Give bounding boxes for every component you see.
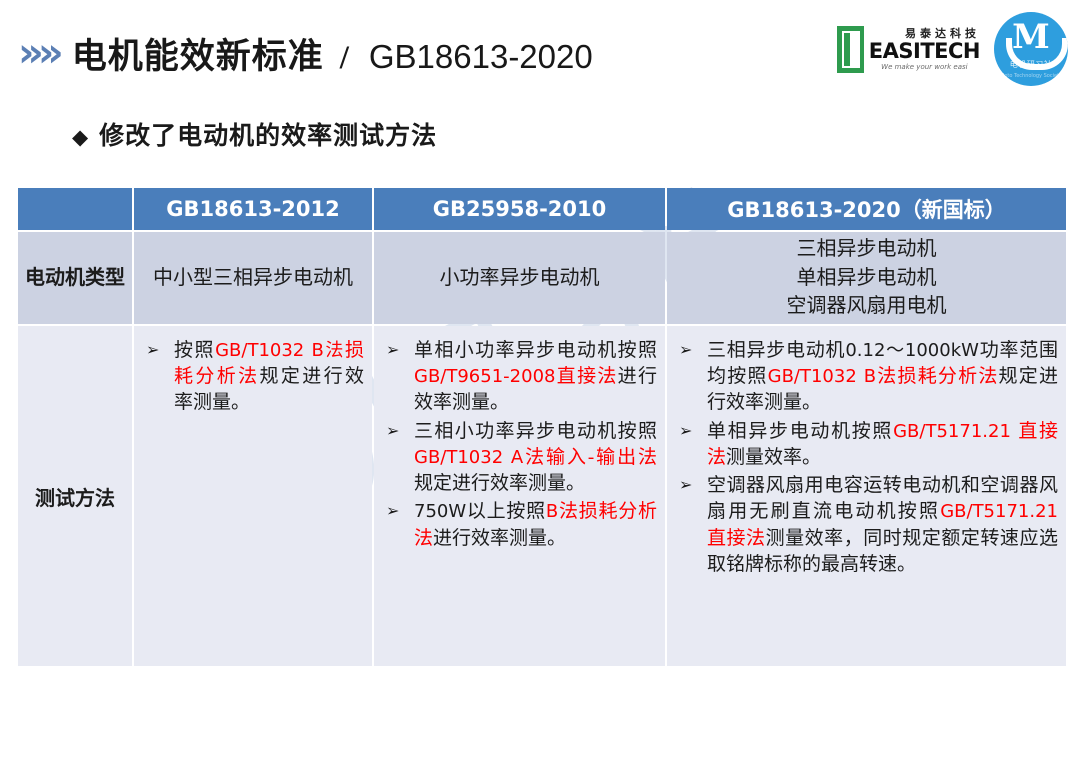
table-row-test-method: 测试方法 按照GB/T1032 B法损耗分析法规定进行效率测量。 单相小功率异步…: [18, 326, 1066, 666]
title-chinese: 电机能效新标准: [72, 28, 324, 79]
cell-text: 中小型三相异步电动机: [134, 264, 372, 292]
highlighted-standard-text: GB/T1032 A: [414, 447, 523, 468]
cell-line: 中小型三相异步电动机: [134, 264, 372, 292]
table-header: GB18613-2012 GB25958-2010 GB18613-2020（新…: [18, 188, 1066, 230]
cell-content: 单相小功率异步电动机按照GB/T9651-2008直接法进行效率测量。三相小功率…: [374, 326, 665, 562]
text-run: 三相异步电动机: [707, 340, 845, 361]
highlighted-standard-text: 直接法: [707, 528, 766, 549]
cell-motor-type-2020: 三相异步电动机单相异步电动机空调器风扇用电机: [667, 232, 1066, 324]
cell-content: 按照GB/T1032 B法损耗分析法规定进行效率测量。: [134, 326, 372, 427]
list-item: 三相异步电动机0.12～1000kW功率范围均按照GB/T1032 B法损耗分析…: [677, 338, 1058, 417]
highlighted-standard-text: GB/T9651-2008: [414, 366, 555, 387]
highlighted-standard-text: GB/T1032 B: [768, 366, 876, 387]
cell-line: 空调器风扇用电机: [667, 292, 1066, 320]
logo-society-en: Moto Technology Society: [994, 73, 1068, 79]
logo-area: 易泰达科技 EASITECH We make your work easi M …: [837, 12, 1068, 86]
text-run: 三相小功率异步电动机按照: [414, 421, 657, 442]
table-header-row: GB18613-2012 GB25958-2010 GB18613-2020（新…: [18, 188, 1066, 230]
cell-line: 单相异步电动机: [667, 264, 1066, 292]
cell-line: 小功率异步电动机: [374, 264, 665, 292]
list-item: 750W以上按照B法损耗分析法进行效率测量。: [384, 499, 657, 551]
table-header-gb18613-2020: GB18613-2020（新国标）: [667, 188, 1066, 230]
highlighted-standard-text: B: [546, 501, 558, 522]
list-item: 单相小功率异步电动机按照GB/T9651-2008直接法进行效率测量。: [384, 338, 657, 417]
cell-line: 三相异步电动机: [667, 235, 1066, 263]
motor-society-logo: M 电机研习社 Moto Technology Society: [994, 12, 1068, 86]
highlighted-standard-text: 法损耗分析法: [876, 366, 998, 387]
easitech-logo-en: EASITECH: [869, 41, 980, 62]
list-item: 三相小功率异步电动机按照GB/T1032 A法输入-输出法规定进行效率测量。: [384, 419, 657, 498]
title-separator: /: [340, 40, 349, 77]
section-subtitle: ◆修改了电动机的效率测试方法: [72, 116, 437, 152]
cell-text: 小功率异步电动机: [374, 264, 665, 292]
slide-header: »» 电机能效新标准 / GB18613-2020 易泰达科技 EASITECH…: [0, 0, 1080, 100]
table-header-gb25958-2010: GB25958-2010: [374, 188, 665, 230]
cell-content: 三相异步电动机0.12～1000kW功率范围均按照GB/T1032 B法损耗分析…: [667, 326, 1066, 588]
easitech-tagline: We make your work easi: [869, 64, 980, 71]
text-run: 规定进行效率测量。: [414, 473, 585, 494]
bullet-list: 三相异步电动机0.12～1000kW功率范围均按照GB/T1032 B法损耗分析…: [677, 338, 1058, 578]
text-run: 单相小功率异步电动机按照: [414, 340, 657, 361]
logo-society-cn: 电机研习社: [994, 59, 1068, 70]
bullet-list: 按照GB/T1032 B法损耗分析法规定进行效率测量。: [144, 338, 364, 417]
text-run: 测量效率。: [726, 447, 821, 468]
highlighted-standard-text: GB/T5171.21: [940, 501, 1058, 522]
text-run: 按照: [174, 340, 215, 361]
text-run: 单相异步电动机按照: [707, 421, 893, 442]
highlighted-standard-text: GB/T5171.21: [893, 421, 1018, 442]
text-run: 750W: [414, 501, 466, 522]
row-label-test-method: 测试方法: [18, 326, 132, 666]
table-header-gb18613-2012: GB18613-2012: [134, 188, 372, 230]
highlighted-standard-text: 法输入-输出法: [523, 447, 657, 468]
list-item: 单相异步电动机按照GB/T5171.21 直接法测量效率。: [677, 419, 1058, 471]
cell-text: 三相异步电动机单相异步电动机空调器风扇用电机: [667, 235, 1066, 320]
table-body: 电动机类型 中小型三相异步电动机 小功率异步电动机 三相异步电动机单相异步电动机…: [18, 232, 1066, 666]
door-icon: [837, 26, 864, 73]
highlighted-standard-text: 直接法: [555, 366, 617, 387]
diamond-bullet-icon: ◆: [72, 125, 89, 149]
list-item: 空调器风扇用电容运转电动机和空调器风扇用无刷直流电动机按照GB/T5171.21…: [677, 473, 1058, 578]
subtitle-text: 修改了电动机的效率测试方法: [99, 123, 437, 150]
text-run: 0.12～1000kW: [845, 340, 979, 361]
cell-test-method-2012: 按照GB/T1032 B法损耗分析法规定进行效率测量。: [134, 326, 372, 666]
table-header-blank: [18, 188, 132, 230]
list-item: 按照GB/T1032 B法损耗分析法规定进行效率测量。: [144, 338, 364, 417]
text-run: 进行效率测量。: [433, 528, 566, 549]
double-chevron-right-icon: »»: [18, 33, 58, 73]
cell-test-method-2010: 单相小功率异步电动机按照GB/T9651-2008直接法进行效率测量。三相小功率…: [374, 326, 665, 666]
highlighted-standard-text: GB/T1032 B法: [215, 340, 345, 361]
text-run: 以上按照: [466, 501, 546, 522]
table-row-motor-type: 电动机类型 中小型三相异步电动机 小功率异步电动机 三相异步电动机单相异步电动机…: [18, 232, 1066, 324]
bullet-list: 单相小功率异步电动机按照GB/T9651-2008直接法进行效率测量。三相小功率…: [384, 338, 657, 552]
page-title: »» 电机能效新标准 / GB18613-2020: [18, 28, 593, 79]
easitech-logo: 易泰达科技 EASITECH We make your work easi: [837, 26, 980, 73]
title-standard-code: GB18613-2020: [369, 38, 593, 76]
standards-comparison-table: GB18613-2012 GB25958-2010 GB18613-2020（新…: [16, 186, 1068, 668]
easitech-logo-cn: 易泰达科技: [869, 28, 980, 39]
cell-motor-type-2012: 中小型三相异步电动机: [134, 232, 372, 324]
row-label-motor-type: 电动机类型: [18, 232, 132, 324]
cell-motor-type-2010: 小功率异步电动机: [374, 232, 665, 324]
cell-test-method-2020: 三相异步电动机0.12～1000kW功率范围均按照GB/T1032 B法损耗分析…: [667, 326, 1066, 666]
